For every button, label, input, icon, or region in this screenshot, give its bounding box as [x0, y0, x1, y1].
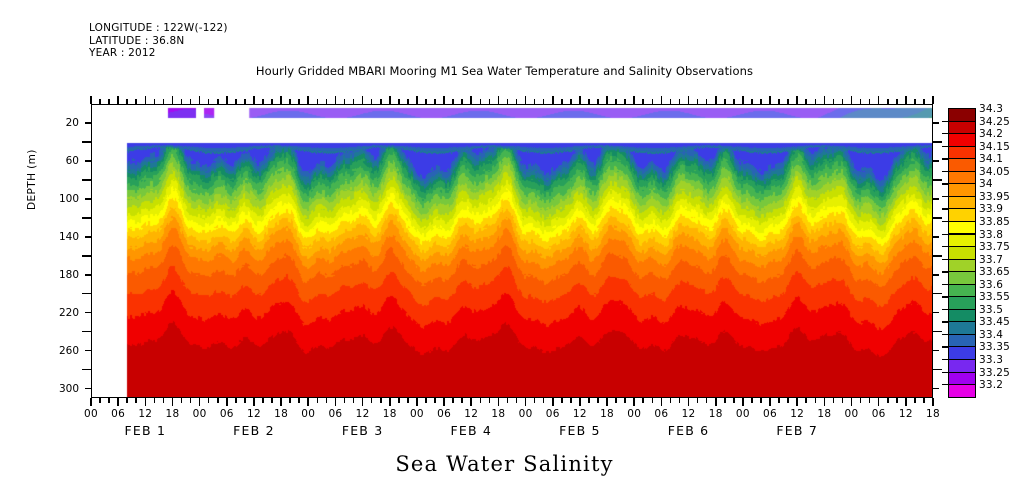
colorbar-band	[948, 296, 976, 310]
x-axis-tick	[199, 398, 201, 406]
colorbar-tick	[942, 183, 948, 184]
x-axis-tick-top	[905, 96, 907, 104]
x-axis-tick-top	[353, 99, 355, 104]
y-axis-tick	[85, 350, 91, 352]
x-axis-tick-top	[525, 96, 527, 104]
x-axis-tick	[434, 398, 436, 403]
x-axis-tick	[217, 398, 219, 403]
x-axis-tick	[516, 398, 518, 403]
colorbar-band	[948, 171, 976, 185]
colorbar-band	[948, 208, 976, 222]
colorbar-band	[948, 372, 976, 386]
colorbar: 34.334.2534.234.1534.134.053433.9533.933…	[948, 104, 1006, 402]
y-axis-tick-right	[933, 198, 939, 200]
x-axis-tick	[126, 398, 128, 403]
y-axis-tick-right	[933, 312, 939, 314]
x-axis-tick-top	[235, 99, 237, 104]
x-axis-tick	[615, 398, 617, 403]
x-axis-tick-top	[733, 99, 735, 104]
colorbar-tick	[942, 372, 948, 373]
x-axis-tick	[778, 398, 780, 403]
colorbar-tick	[942, 259, 948, 260]
x-axis-tick-top	[588, 99, 590, 104]
x-axis-tick-top	[226, 96, 228, 104]
colorbar-band	[948, 384, 976, 398]
station-metadata: LONGITUDE : 122W(-122) LATITUDE : 36.8N …	[89, 22, 228, 60]
colorbar-tick	[942, 296, 948, 297]
x-axis-tick	[353, 398, 355, 403]
x-axis-tick-top	[887, 99, 889, 104]
x-axis-tick-top	[543, 99, 545, 104]
x-axis-tick-top	[135, 99, 137, 104]
x-axis-tick-top	[208, 99, 210, 104]
y-axis-tick	[85, 312, 91, 314]
colorbar-label: 33.65	[979, 266, 1009, 278]
x-axis-tick	[706, 398, 708, 403]
x-axis-tick	[371, 398, 373, 403]
y-axis-label: 180	[35, 269, 79, 281]
x-axis-tick-top	[824, 96, 826, 104]
y-axis-tick	[82, 255, 91, 257]
x-axis-day-label: FEB 3	[308, 423, 418, 438]
x-axis-tick-top	[642, 99, 644, 104]
x-axis-tick	[154, 398, 156, 403]
y-axis-tick-right	[933, 122, 939, 124]
y-axis-tick-right	[933, 293, 942, 295]
page-title: Hourly Gridded MBARI Mooring M1 Sea Wate…	[0, 64, 1009, 78]
x-axis-tick	[507, 398, 509, 403]
x-axis-tick-top	[99, 99, 101, 104]
colorbar-tick	[942, 334, 948, 335]
colorbar-tick	[942, 284, 948, 285]
x-axis-tick	[244, 398, 246, 403]
x-axis-tick-top	[624, 99, 626, 104]
x-axis-tick	[869, 398, 871, 403]
x-axis-tick	[145, 398, 147, 406]
colorbar-band	[948, 259, 976, 273]
x-axis-tick	[824, 398, 826, 406]
x-axis-tick-top	[706, 99, 708, 104]
x-axis-tick	[588, 398, 590, 403]
colorbar-band	[948, 121, 976, 135]
x-axis-tick	[815, 398, 817, 403]
x-axis-tick	[208, 398, 210, 403]
x-axis-tick	[914, 398, 916, 403]
x-axis-tick-top	[670, 99, 672, 104]
y-axis-label: 300	[35, 383, 79, 395]
x-axis-tick	[307, 398, 309, 406]
colorbar-label: 34.15	[979, 141, 1009, 153]
y-axis-label: 100	[35, 193, 79, 205]
x-axis-tick-top	[787, 99, 789, 104]
x-axis-tick	[416, 398, 418, 406]
x-axis-day-label: FEB 2	[199, 423, 309, 438]
x-axis-tick-top	[552, 96, 554, 104]
y-axis-tick-right	[933, 350, 939, 352]
x-axis-tick-top	[163, 99, 165, 104]
x-axis-tick-top	[570, 99, 572, 104]
colorbar-label: 33.4	[979, 329, 1003, 341]
x-axis-tick	[443, 398, 445, 406]
x-axis-tick	[398, 398, 400, 403]
x-axis-tick	[642, 398, 644, 403]
colorbar-tick	[942, 359, 948, 360]
y-axis-label: 220	[35, 307, 79, 319]
colorbar-tick	[942, 321, 948, 322]
x-axis-tick-top	[289, 99, 291, 104]
x-axis-tick-top	[480, 99, 482, 104]
x-axis-tick-top	[652, 99, 654, 104]
x-axis-tick-top	[597, 99, 599, 104]
colorbar-band	[948, 108, 976, 122]
y-axis-label: 60	[35, 155, 79, 167]
x-axis-tick	[289, 398, 291, 403]
colorbar-label: 34.3	[979, 103, 1003, 115]
colorbar-label: 33.2	[979, 379, 1003, 391]
year-text: YEAR : 2012	[89, 47, 228, 60]
x-axis-tick	[769, 398, 771, 406]
colorbar-band	[948, 271, 976, 285]
x-axis-tick-top	[715, 96, 717, 104]
colorbar-band	[948, 196, 976, 210]
x-axis-tick	[833, 398, 835, 403]
x-axis-tick	[271, 398, 273, 403]
x-axis-tick	[425, 398, 427, 403]
x-axis-tick-top	[280, 96, 282, 104]
x-axis-hour-label: 18	[916, 408, 950, 420]
colorbar-tick	[942, 171, 948, 172]
x-axis-tick-top	[335, 96, 337, 104]
x-axis-tick	[181, 398, 183, 403]
x-axis-tick	[633, 398, 635, 406]
colorbar-band	[948, 309, 976, 323]
x-axis-tick-top	[217, 99, 219, 104]
colorbar-label: 33.8	[979, 229, 1003, 241]
y-axis-label: 140	[35, 231, 79, 243]
colorbar-tick	[942, 346, 948, 347]
x-axis-tick	[742, 398, 744, 406]
x-axis-tick	[787, 398, 789, 403]
x-axis-tick-top	[317, 99, 319, 104]
x-axis-tick-top	[181, 99, 183, 104]
x-axis-tick-top	[796, 96, 798, 104]
colorbar-label: 33.3	[979, 354, 1003, 366]
x-axis-tick	[480, 398, 482, 403]
x-axis-tick	[172, 398, 174, 406]
x-axis-tick	[624, 398, 626, 403]
x-axis-tick-top	[425, 99, 427, 104]
x-axis-tick-top	[896, 99, 898, 104]
longitude-text: LONGITUDE : 122W(-122)	[89, 22, 228, 35]
colorbar-label: 34.2	[979, 128, 1003, 140]
x-axis-tick-top	[90, 96, 92, 104]
x-axis-tick-top	[724, 99, 726, 104]
x-axis-tick	[552, 398, 554, 406]
x-axis-tick-top	[262, 99, 264, 104]
y-axis-tick	[82, 217, 91, 219]
x-axis-tick	[235, 398, 237, 403]
x-axis-day-label: FEB 7	[742, 423, 852, 438]
x-axis-tick-top	[579, 96, 581, 104]
x-axis-tick-top	[561, 99, 563, 104]
x-axis-tick-top	[389, 96, 391, 104]
y-axis-tick	[85, 122, 91, 124]
x-axis-tick-top	[298, 99, 300, 104]
x-axis-tick	[407, 398, 409, 403]
y-axis-tick	[82, 293, 91, 295]
x-axis-tick-top	[914, 99, 916, 104]
colorbar-tick	[942, 196, 948, 197]
x-axis-tick	[317, 398, 319, 403]
y-axis-tick-right	[933, 236, 939, 238]
x-axis-tick-top	[633, 96, 635, 104]
x-axis-tick	[932, 398, 934, 406]
x-axis-tick-top	[307, 96, 309, 104]
x-axis-tick-top	[742, 96, 744, 104]
colorbar-label: 33.95	[979, 191, 1009, 203]
x-axis-tick-top	[362, 96, 364, 104]
x-axis-tick	[280, 398, 282, 406]
x-axis-tick-top	[923, 99, 925, 104]
x-axis-tick	[606, 398, 608, 406]
x-axis-tick	[896, 398, 898, 403]
x-axis-day-label: FEB 5	[525, 423, 635, 438]
x-axis-tick-top	[244, 99, 246, 104]
x-axis-tick	[525, 398, 527, 406]
x-axis-tick	[335, 398, 337, 406]
x-axis-tick	[597, 398, 599, 403]
colorbar-tick	[942, 246, 948, 247]
colorbar-tick	[942, 133, 948, 134]
x-axis-tick-top	[407, 99, 409, 104]
x-axis-tick-top	[344, 99, 346, 104]
x-axis-tick-top	[833, 99, 835, 104]
x-axis-tick-top	[117, 96, 119, 104]
x-axis-tick	[226, 398, 228, 406]
y-axis-tick	[85, 274, 91, 276]
y-axis-tick-right	[933, 160, 939, 162]
y-axis-tick	[85, 198, 91, 200]
x-axis-tick-top	[489, 99, 491, 104]
x-axis-tick-top	[769, 96, 771, 104]
colorbar-tick	[942, 384, 948, 385]
x-axis-tick-top	[778, 99, 780, 104]
x-axis-tick	[661, 398, 663, 406]
colorbar-tick	[942, 158, 948, 159]
x-axis-tick-top	[253, 96, 255, 104]
x-axis-tick	[860, 398, 862, 403]
x-axis-tick	[389, 398, 391, 406]
x-axis-tick	[326, 398, 328, 403]
x-axis-tick-top	[326, 99, 328, 104]
y-axis-tick-right	[933, 388, 939, 390]
x-axis-tick-top	[516, 99, 518, 104]
colorbar-band	[948, 284, 976, 298]
y-axis-tick-right	[933, 217, 942, 219]
x-axis-tick	[688, 398, 690, 406]
x-axis-tick-top	[805, 99, 807, 104]
x-axis-tick	[452, 398, 454, 403]
colorbar-label: 33.45	[979, 316, 1009, 328]
x-axis-tick-top	[860, 99, 862, 104]
y-axis-tick-right	[933, 369, 942, 371]
x-axis-tick-top	[851, 96, 853, 104]
x-axis-tick	[878, 398, 880, 406]
x-axis-tick	[760, 398, 762, 403]
x-axis-tick	[298, 398, 300, 403]
x-axis-tick	[796, 398, 798, 406]
x-axis-tick-top	[606, 96, 608, 104]
x-axis-tick	[923, 398, 925, 403]
x-axis-tick	[380, 398, 382, 403]
x-axis-day-label: FEB 4	[416, 423, 526, 438]
x-axis-tick	[99, 398, 101, 403]
x-axis-tick	[470, 398, 472, 406]
x-axis-tick	[498, 398, 500, 406]
x-axis-tick-top	[878, 96, 880, 104]
x-axis-tick-top	[498, 96, 500, 104]
x-axis-tick-top	[199, 96, 201, 104]
x-axis-tick	[117, 398, 119, 406]
x-axis-tick-top	[760, 99, 762, 104]
x-axis-tick	[905, 398, 907, 406]
colorbar-label: 34	[979, 178, 993, 190]
x-axis-tick	[805, 398, 807, 403]
colorbar-band	[948, 246, 976, 260]
y-axis-tick-right	[933, 255, 942, 257]
x-axis-tick	[561, 398, 563, 403]
x-axis-tick-top	[271, 99, 273, 104]
x-axis-tick	[135, 398, 137, 403]
colorbar-label: 33.7	[979, 254, 1003, 266]
y-axis-label: 260	[35, 345, 79, 357]
x-axis-tick	[579, 398, 581, 406]
colorbar-label: 33.6	[979, 279, 1003, 291]
x-axis-tick-top	[534, 99, 536, 104]
colorbar-band	[948, 158, 976, 172]
colorbar-label: 33.5	[979, 304, 1003, 316]
colorbar-label: 34.25	[979, 116, 1009, 128]
colorbar-label: 34.1	[979, 153, 1003, 165]
colorbar-label: 33.9	[979, 203, 1003, 215]
x-axis-day-label: FEB 6	[634, 423, 744, 438]
x-axis-tick-top	[380, 99, 382, 104]
colorbar-label: 33.35	[979, 341, 1009, 353]
x-axis-tick-top	[932, 96, 934, 104]
x-axis-tick	[652, 398, 654, 403]
colorbar-tick	[942, 309, 948, 310]
colorbar-band	[948, 321, 976, 335]
x-axis-tick-top	[154, 99, 156, 104]
x-axis-tick-top	[507, 99, 509, 104]
x-axis-tick-top	[452, 99, 454, 104]
x-axis-tick	[724, 398, 726, 403]
colorbar-band	[948, 359, 976, 373]
colorbar-label: 34.05	[979, 166, 1009, 178]
x-axis-tick-top	[842, 99, 844, 104]
x-axis-tick	[108, 398, 110, 403]
x-axis-tick	[344, 398, 346, 403]
y-axis-tick-right	[933, 141, 942, 143]
y-axis-tick	[85, 388, 91, 390]
salinity-field-canvas	[91, 104, 933, 398]
x-axis-tick-top	[615, 99, 617, 104]
x-axis-tick	[90, 398, 92, 406]
x-axis-tick	[733, 398, 735, 403]
x-axis-tick-top	[434, 99, 436, 104]
x-axis-tick	[362, 398, 364, 406]
x-axis-tick	[670, 398, 672, 403]
x-axis-tick-top	[751, 99, 753, 104]
x-axis-tick-top	[461, 99, 463, 104]
x-axis-tick	[851, 398, 853, 406]
x-axis-tick	[543, 398, 545, 403]
x-axis-tick-top	[815, 99, 817, 104]
y-axis-tick-right	[933, 179, 942, 181]
y-axis-tick	[85, 236, 91, 238]
x-axis-tick	[190, 398, 192, 403]
colorbar-band	[948, 146, 976, 160]
x-axis-tick	[679, 398, 681, 403]
x-axis-tick-top	[688, 96, 690, 104]
y-axis-tick-right	[933, 274, 939, 276]
x-axis-tick	[570, 398, 572, 403]
plot-caption: Sea Water Salinity	[0, 452, 1009, 476]
colorbar-label: 33.75	[979, 241, 1009, 253]
x-axis-tick-top	[190, 99, 192, 104]
x-axis-tick-top	[371, 99, 373, 104]
x-axis-tick-top	[126, 99, 128, 104]
y-axis-tick	[82, 331, 91, 333]
x-axis-tick-top	[108, 99, 110, 104]
colorbar-tick	[942, 271, 948, 272]
colorbar-band	[948, 346, 976, 360]
y-axis-tick-right	[933, 331, 942, 333]
x-axis-tick-top	[661, 96, 663, 104]
x-axis-tick-top	[145, 96, 147, 104]
colorbar-tick	[942, 121, 948, 122]
colorbar-tick	[942, 208, 948, 209]
x-axis-tick	[262, 398, 264, 403]
x-axis-tick	[461, 398, 463, 403]
x-axis-tick-top	[470, 96, 472, 104]
colorbar-label: 33.25	[979, 367, 1009, 379]
x-axis-tick	[842, 398, 844, 403]
colorbar-tick	[942, 146, 948, 147]
colorbar-band	[948, 234, 976, 248]
x-axis-tick-top	[416, 96, 418, 104]
y-axis-label: 20	[35, 117, 79, 129]
y-axis-tick	[82, 369, 91, 371]
x-axis-tick-top	[398, 99, 400, 104]
latitude-text: LATITUDE : 36.8N	[89, 35, 228, 48]
colorbar-tick	[942, 234, 948, 235]
y-axis-tick	[85, 160, 91, 162]
x-axis-tick	[751, 398, 753, 403]
y-axis-tick	[82, 179, 91, 181]
colorbar-band	[948, 221, 976, 235]
x-axis-tick-top	[679, 99, 681, 104]
x-axis-tick-top	[697, 99, 699, 104]
x-axis-tick	[887, 398, 889, 403]
x-axis-tick-top	[443, 96, 445, 104]
x-axis-tick	[163, 398, 165, 403]
x-axis-tick	[715, 398, 717, 406]
colorbar-label: 33.55	[979, 291, 1009, 303]
x-axis-tick-top	[172, 96, 174, 104]
colorbar-label: 33.85	[979, 216, 1009, 228]
salinity-contour-plot	[91, 104, 933, 398]
